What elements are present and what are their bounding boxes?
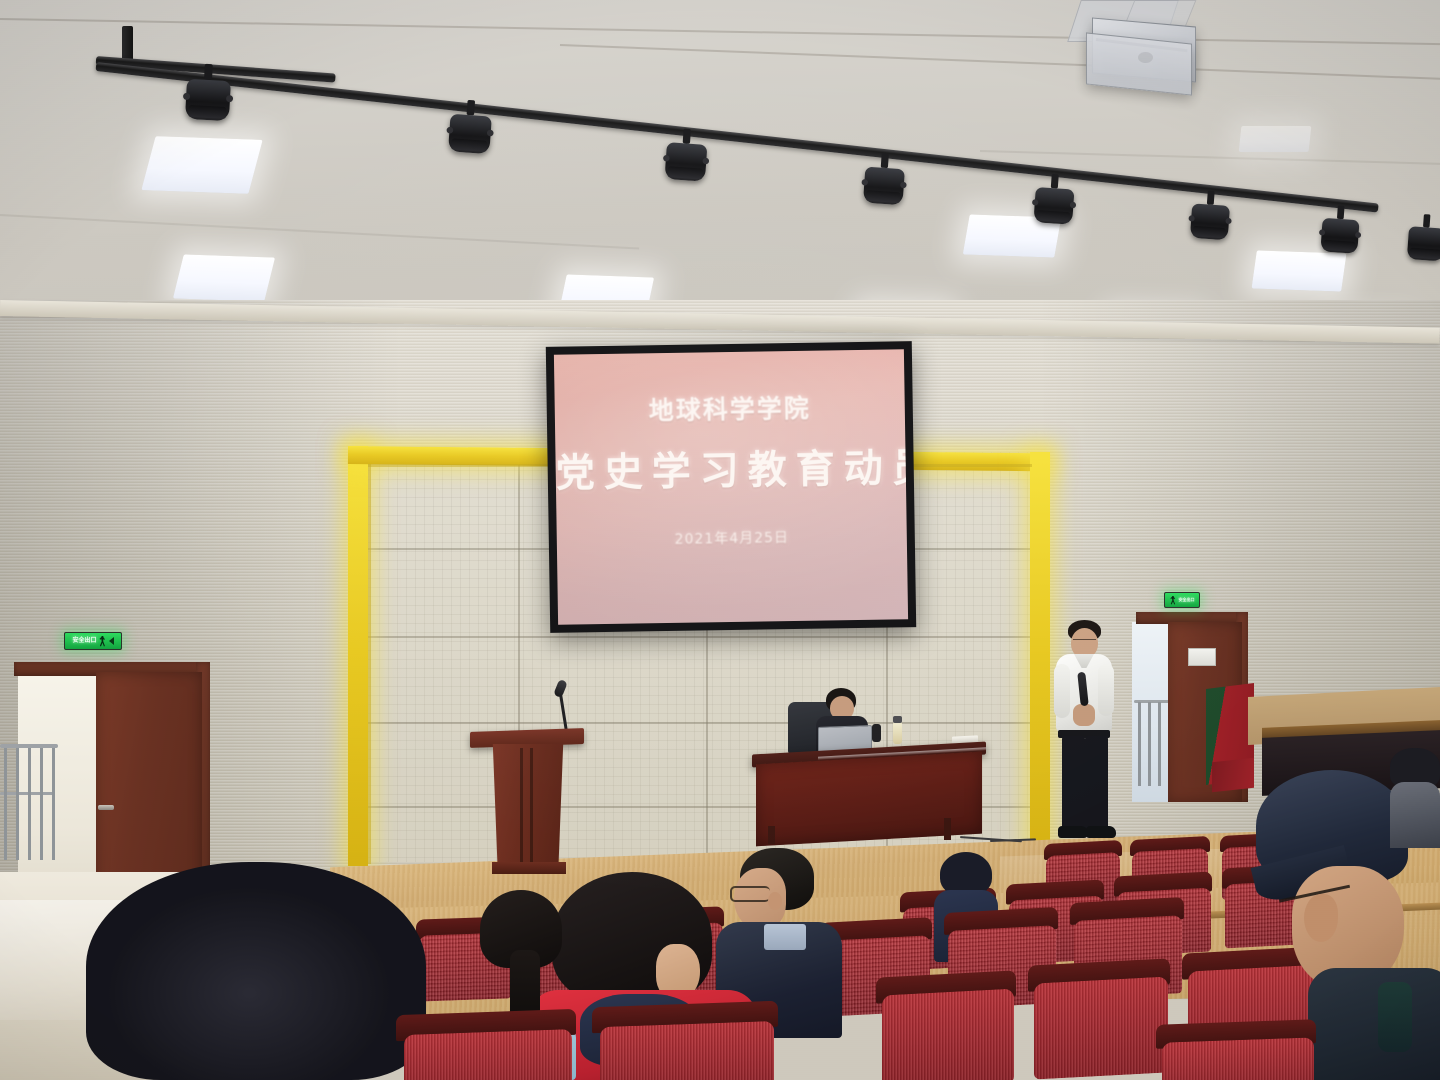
podium-flute (520, 748, 523, 866)
standing-speaker (1048, 620, 1122, 842)
left-door-handle[interactable] (98, 805, 114, 810)
running-man-icon (99, 636, 107, 647)
head-table-leg (944, 818, 951, 840)
speaker-podium (488, 744, 568, 868)
led-panel-light (173, 254, 275, 301)
water-bottle-cap (893, 716, 902, 723)
track-spotlight (664, 138, 707, 183)
audience-suit-ear (768, 892, 782, 910)
projector-housing-panel (1086, 32, 1192, 95)
projection-screen-surface: 地球科学学院 党史学习教育动员会 2021年4月25日 (554, 349, 908, 624)
slide-title: 党史学习教育动员会 (555, 437, 906, 498)
speaker-glasses-icon (1073, 639, 1096, 644)
exit-sign-left: 安全出口 (64, 632, 122, 650)
seat-row-foreground-right (1156, 1016, 1440, 1080)
speaker-hands (1073, 704, 1095, 726)
stage-accent-frame-right (1030, 452, 1050, 852)
exit-sign-right: 安全出口 (1164, 592, 1200, 608)
auditorium-photo: 地球科学学院 党史学习教育动员会 2021年4月25日 安全出口 (0, 0, 1440, 1080)
speaker-leg-right (1085, 736, 1108, 832)
exit-sign-left-label: 安全出口 (72, 638, 96, 644)
track-spotlight (1320, 214, 1360, 255)
track-spotlight (1407, 223, 1440, 263)
water-bottle (893, 722, 902, 744)
speaker-arm-left (1054, 664, 1070, 718)
track-spotlight (1033, 183, 1074, 226)
track-spotlight (448, 110, 492, 156)
track-spotlight (863, 163, 905, 207)
led-panel-light (1252, 250, 1347, 291)
audience-front-left (86, 862, 426, 1080)
audience-far-right-body (1390, 782, 1440, 848)
head-table-leg (768, 826, 775, 844)
speaker-arm-right (1098, 664, 1114, 716)
slide-organization: 地球科学学院 (554, 387, 905, 428)
podium-flute (530, 748, 533, 866)
speaker-leg-left (1062, 736, 1085, 832)
projection-screen: 地球科学学院 党史学习教育动员会 2021年4月25日 (546, 341, 916, 633)
track-spotlight (1190, 200, 1231, 242)
stage-accent-frame-inner (368, 464, 371, 864)
right-door-notice (1188, 648, 1216, 666)
exit-arrow-icon (109, 637, 114, 645)
running-man-icon (1170, 596, 1177, 605)
audience-cap-ear (1304, 894, 1338, 942)
backdrop-grout-line (352, 636, 1042, 638)
seat-row-foreground (396, 1000, 876, 1080)
audience-suit-shirt-collar (764, 924, 806, 950)
desk-microphone (872, 724, 881, 742)
backdrop-grout-line (352, 722, 1042, 724)
audience-far-right (1390, 748, 1440, 848)
track-spotlight (185, 75, 231, 123)
exit-sign-right-label: 安全出口 (1179, 598, 1195, 602)
audience-front-left-hair (86, 862, 426, 1080)
led-panel-light (141, 136, 262, 194)
stage-accent-frame-left (348, 446, 368, 866)
led-panel-light (1239, 126, 1312, 152)
